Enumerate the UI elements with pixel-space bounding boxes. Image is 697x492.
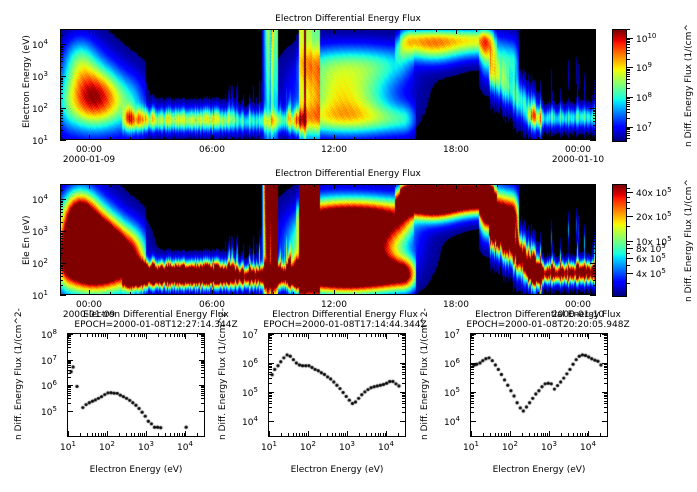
tick-mark [593, 216, 596, 217]
tick-mark [470, 398, 474, 399]
tick-mark [60, 285, 63, 286]
tick-mark [293, 29, 294, 32]
tick-mark [293, 137, 294, 140]
tick-mark [268, 407, 272, 408]
tick-mark [541, 433, 542, 437]
tick-mark [501, 333, 502, 337]
tick-mark [67, 367, 71, 368]
tick-mark [627, 226, 630, 227]
ytick-label: 104 [32, 194, 48, 206]
tick-mark [380, 433, 381, 437]
tick-mark [273, 137, 274, 140]
tick-mark [335, 433, 336, 437]
colorbar-tick-label: 4x 105 [636, 268, 666, 280]
tick-mark [60, 118, 63, 119]
tick-mark [375, 137, 376, 140]
tick-mark [212, 184, 213, 187]
tick-mark [60, 125, 63, 126]
tick-mark [60, 140, 66, 141]
tick-mark [627, 129, 630, 130]
ytick-label: 107 [444, 329, 460, 341]
tick-mark [470, 346, 474, 347]
tick-mark [268, 335, 272, 336]
ytick-label: 101 [32, 290, 48, 302]
tick-mark [471, 431, 472, 437]
tick-mark [60, 241, 63, 242]
tick-mark [470, 401, 474, 402]
tick-mark [308, 333, 309, 339]
tick-mark [456, 292, 457, 295]
tick-mark [593, 233, 596, 234]
tick-mark [201, 393, 205, 394]
tick-mark [590, 108, 596, 109]
tick-mark [593, 244, 596, 245]
tick-mark [60, 190, 63, 191]
tick-mark [142, 333, 143, 337]
ytick-label: 102 [32, 103, 48, 115]
tick-mark [517, 29, 518, 32]
tick-mark [60, 111, 63, 112]
tick-mark [67, 344, 71, 345]
tick-mark [395, 29, 396, 32]
tick-mark [332, 333, 333, 337]
tick-mark [593, 238, 596, 239]
xtick-label: 101 [261, 441, 277, 453]
ytick-label: 104 [444, 416, 460, 428]
tick-mark [134, 333, 135, 337]
tick-mark [593, 248, 596, 249]
tick-mark [470, 349, 474, 350]
tick-mark [197, 333, 198, 337]
tick-mark [101, 333, 102, 337]
tick-mark [354, 292, 355, 295]
tick-mark [375, 29, 376, 32]
tick-mark [140, 433, 141, 437]
tick-mark [627, 74, 630, 75]
tick-mark [296, 433, 297, 437]
tick-mark [402, 364, 406, 365]
tick-mark [456, 137, 457, 140]
tick-mark [604, 366, 608, 367]
tick-mark [627, 59, 630, 60]
tick-mark [593, 209, 596, 210]
tick-mark [402, 396, 406, 397]
tick-mark [375, 292, 376, 295]
xtick-date: 2000-01-10 [552, 156, 604, 165]
tick-mark [590, 76, 596, 77]
tick-mark [151, 29, 152, 32]
tick-mark [308, 431, 309, 437]
tick-mark [138, 333, 139, 337]
spectrum3-xlabel: Electron Energy (eV) [493, 466, 586, 475]
tick-mark [304, 433, 305, 437]
colorbar-tick-label: 10x 105 [636, 236, 672, 248]
tick-mark [89, 29, 90, 32]
tick-mark [627, 265, 630, 266]
tick-mark [126, 333, 127, 337]
tick-mark [402, 372, 406, 373]
tick-mark [604, 372, 608, 373]
spectrum2-title: Electron Differential Energy Flux [272, 311, 418, 320]
tick-mark [201, 387, 205, 388]
tick-mark [201, 391, 205, 392]
tick-mark [60, 231, 66, 232]
tick-mark [67, 334, 73, 335]
tick-mark [383, 333, 384, 337]
tick-mark [593, 204, 596, 205]
tick-mark [588, 431, 589, 437]
spectrum1-plot [67, 333, 205, 437]
spectrum1-xlabel: Electron Energy (eV) [90, 466, 183, 475]
tick-mark [529, 433, 530, 437]
tick-mark [537, 433, 538, 437]
tick-mark [60, 206, 63, 207]
tick-mark [212, 292, 213, 295]
tick-mark [232, 184, 233, 187]
tick-mark [456, 29, 457, 32]
xtick-label: 00:00 [565, 146, 591, 155]
tick-mark [201, 377, 205, 378]
tick-mark [470, 363, 476, 364]
tick-mark [602, 363, 608, 364]
tick-mark [130, 137, 131, 140]
tick-mark [378, 433, 379, 437]
tick-mark [395, 292, 396, 295]
tick-mark [87, 433, 88, 437]
tick-mark [400, 334, 406, 335]
tick-mark [501, 433, 502, 437]
tick-mark [568, 433, 569, 437]
tick-mark [199, 334, 205, 335]
tick-mark [604, 369, 608, 370]
tick-mark [508, 333, 509, 337]
spectrum3-ylabel: n Diff. Energy Flux (1/(cm^2- [420, 308, 430, 440]
tick-mark [273, 29, 274, 32]
tick-mark [504, 333, 505, 337]
tick-mark [347, 431, 348, 437]
tick-mark [604, 364, 608, 365]
tick-mark [60, 212, 63, 213]
tick-mark [402, 349, 406, 350]
tick-mark [299, 333, 300, 337]
tick-mark [142, 433, 143, 437]
tick-mark [402, 367, 406, 368]
tick-mark [67, 363, 71, 364]
tick-mark [470, 372, 474, 373]
tick-mark [268, 403, 272, 404]
tick-mark [268, 363, 274, 364]
tick-mark [87, 333, 88, 337]
tick-mark [60, 236, 63, 237]
tick-mark [627, 208, 630, 209]
tick-mark [366, 333, 367, 337]
tick-mark [627, 97, 633, 98]
tick-mark [359, 333, 360, 337]
tick-mark [273, 184, 274, 187]
tick-mark [182, 433, 183, 437]
tick-mark [593, 89, 596, 90]
xtick-label: 102 [300, 441, 316, 453]
tick-mark [98, 333, 99, 337]
tick-mark [402, 337, 406, 338]
tick-mark [67, 387, 71, 388]
tick-mark [470, 393, 474, 394]
tick-mark [476, 184, 477, 187]
tick-mark [201, 389, 205, 390]
tick-mark [347, 333, 348, 339]
tick-mark [593, 202, 596, 203]
tick-mark [60, 201, 63, 202]
tick-mark [60, 67, 63, 68]
tick-mark [627, 39, 630, 40]
tick-mark [558, 184, 559, 187]
xtick-label: 101 [60, 441, 76, 453]
tick-mark [402, 374, 406, 375]
tick-mark [366, 433, 367, 437]
tick-mark [60, 270, 63, 271]
tick-mark [593, 86, 596, 87]
tick-mark [490, 333, 491, 337]
tick-mark [314, 292, 315, 295]
xtick-label: 104 [580, 441, 596, 453]
tick-mark [476, 137, 477, 140]
tick-mark [268, 334, 274, 335]
tick-mark [60, 110, 63, 111]
tick-mark [497, 184, 498, 187]
tick-mark [339, 333, 340, 337]
tick-mark [627, 29, 630, 30]
tick-mark [60, 93, 63, 94]
tick-mark [201, 344, 205, 345]
tick-mark [151, 292, 152, 295]
tick-mark [402, 393, 406, 394]
tick-mark [60, 35, 63, 36]
tick-mark [60, 89, 63, 90]
tick-mark [268, 372, 272, 373]
tick-mark [470, 374, 474, 375]
tick-mark [67, 335, 71, 336]
tick-mark [545, 433, 546, 437]
tick-mark [359, 433, 360, 437]
tick-mark [627, 50, 630, 51]
tick-mark [201, 338, 205, 339]
tick-mark [593, 234, 596, 235]
tick-mark [343, 433, 344, 437]
spectrogram-bottom-plot [60, 184, 596, 295]
ytick-label: 103 [32, 71, 48, 83]
tick-mark [506, 433, 507, 437]
tick-mark [60, 276, 63, 277]
tick-mark [131, 433, 132, 437]
tick-mark [107, 431, 108, 437]
tick-mark [67, 393, 71, 394]
tick-mark [95, 433, 96, 437]
tick-mark [593, 266, 596, 267]
tick-mark [590, 199, 596, 200]
tick-mark [593, 241, 596, 242]
ytick-label: 107 [242, 329, 258, 341]
tick-mark [232, 137, 233, 140]
tick-mark [573, 333, 574, 337]
tick-mark [60, 234, 63, 235]
tick-mark [299, 433, 300, 437]
tick-mark [201, 347, 205, 348]
tick-mark [593, 118, 596, 119]
tick-mark [60, 184, 63, 185]
tick-mark [402, 338, 406, 339]
tick-mark [604, 396, 608, 397]
tick-mark [204, 433, 205, 437]
tick-mark [504, 433, 505, 437]
tick-mark [89, 292, 90, 295]
tick-mark [201, 363, 205, 364]
xtick-label: 06:00 [199, 146, 225, 155]
tick-mark [593, 79, 596, 80]
tick-mark [545, 333, 546, 337]
tick-mark [191, 184, 192, 187]
tick-mark [470, 354, 474, 355]
colorbar-top [612, 29, 627, 142]
tick-mark [402, 378, 406, 379]
xtick-label: 12:00 [321, 301, 347, 310]
tick-mark [151, 184, 152, 187]
tick-mark [593, 54, 596, 55]
panel1-ylabel: Electron Energy (eV) [22, 35, 32, 128]
spectrum3-title: Electron Differential Energy Flux [475, 311, 621, 320]
ytick-label: 102 [32, 258, 48, 270]
tick-mark [627, 244, 630, 245]
tick-mark [395, 137, 396, 140]
tick-mark [593, 236, 596, 237]
tick-mark [627, 253, 630, 254]
tick-mark [67, 352, 71, 353]
tick-mark [483, 433, 484, 437]
tick-mark [268, 354, 272, 355]
tick-mark [627, 41, 630, 42]
ytick-label: 105 [444, 387, 460, 399]
xtick-label: 18:00 [443, 146, 469, 155]
tick-mark [585, 333, 586, 337]
tick-mark [627, 135, 630, 136]
tick-mark [201, 361, 205, 362]
tick-mark [400, 421, 406, 422]
tick-mark [268, 349, 272, 350]
tick-mark [470, 364, 474, 365]
tick-mark [179, 433, 180, 437]
tick-mark [354, 184, 355, 187]
tick-mark [67, 385, 73, 386]
tick-mark [627, 69, 630, 70]
tick-mark [268, 412, 272, 413]
tick-mark [470, 338, 474, 339]
tick-mark [627, 70, 630, 71]
tick-mark [252, 29, 253, 32]
tick-mark [201, 365, 205, 366]
tick-mark [578, 137, 579, 140]
tick-mark [522, 333, 523, 337]
tick-mark [371, 433, 372, 437]
tick-mark [593, 190, 596, 191]
tick-mark [140, 333, 141, 337]
tick-mark [144, 333, 145, 337]
tick-mark [67, 338, 71, 339]
tick-mark [627, 72, 630, 73]
tick-mark [268, 340, 272, 341]
tick-mark [541, 333, 542, 337]
tick-mark [296, 333, 297, 337]
spectrum3-plot [470, 333, 608, 437]
spectrum2-subtitle: EPOCH=2000-01-08T17:14:44.344Z [263, 321, 426, 330]
tick-mark [60, 57, 63, 58]
tick-mark [177, 333, 178, 337]
tick-mark [110, 137, 111, 140]
tick-mark [92, 333, 93, 337]
tick-mark [60, 81, 63, 82]
tick-mark [593, 273, 596, 274]
tick-mark [67, 347, 71, 348]
tick-mark [268, 338, 272, 339]
colorbar-tick-label: 109 [636, 62, 652, 74]
tick-mark [174, 333, 175, 337]
tick-mark [510, 333, 511, 339]
tick-mark [191, 292, 192, 295]
tick-mark [627, 197, 630, 198]
tick-mark [580, 433, 581, 437]
xtick-label: 104 [177, 441, 193, 453]
tick-mark [341, 333, 342, 337]
tick-mark [593, 130, 596, 131]
tick-mark [304, 333, 305, 337]
tick-mark [345, 333, 346, 337]
tick-mark [549, 431, 550, 437]
tick-mark [470, 403, 474, 404]
tick-mark [386, 431, 387, 437]
tick-mark [627, 188, 630, 189]
tick-mark [398, 433, 399, 437]
tick-mark [375, 433, 376, 437]
tick-mark [604, 393, 608, 394]
tick-mark [593, 47, 596, 48]
tick-mark [60, 222, 63, 223]
tick-mark [568, 333, 569, 337]
spectrum2-xlabel: Electron Energy (eV) [291, 466, 384, 475]
tick-mark [60, 248, 63, 249]
tick-mark [590, 231, 596, 232]
tick-mark [110, 29, 111, 32]
tick-mark [588, 333, 589, 339]
tick-mark [130, 292, 131, 295]
tick-mark [375, 184, 376, 187]
tick-mark [185, 333, 186, 339]
tick-mark [185, 431, 186, 437]
tick-mark [627, 98, 630, 99]
tick-mark [593, 98, 596, 99]
tick-mark [174, 433, 175, 437]
tick-mark [497, 29, 498, 32]
xtick-label: 103 [541, 441, 557, 453]
tick-mark [171, 29, 172, 32]
panel2-ylabel: Ele En (eV) [22, 215, 32, 265]
tick-mark [306, 433, 307, 437]
tick-mark [146, 333, 147, 339]
tick-mark [522, 433, 523, 437]
tick-mark [476, 29, 477, 32]
panel1-title: Electron Differential Energy Flux [275, 15, 421, 24]
tick-mark [593, 110, 596, 111]
ytick-label: 103 [32, 226, 48, 238]
tick-mark [456, 184, 457, 187]
tick-mark [67, 365, 71, 366]
